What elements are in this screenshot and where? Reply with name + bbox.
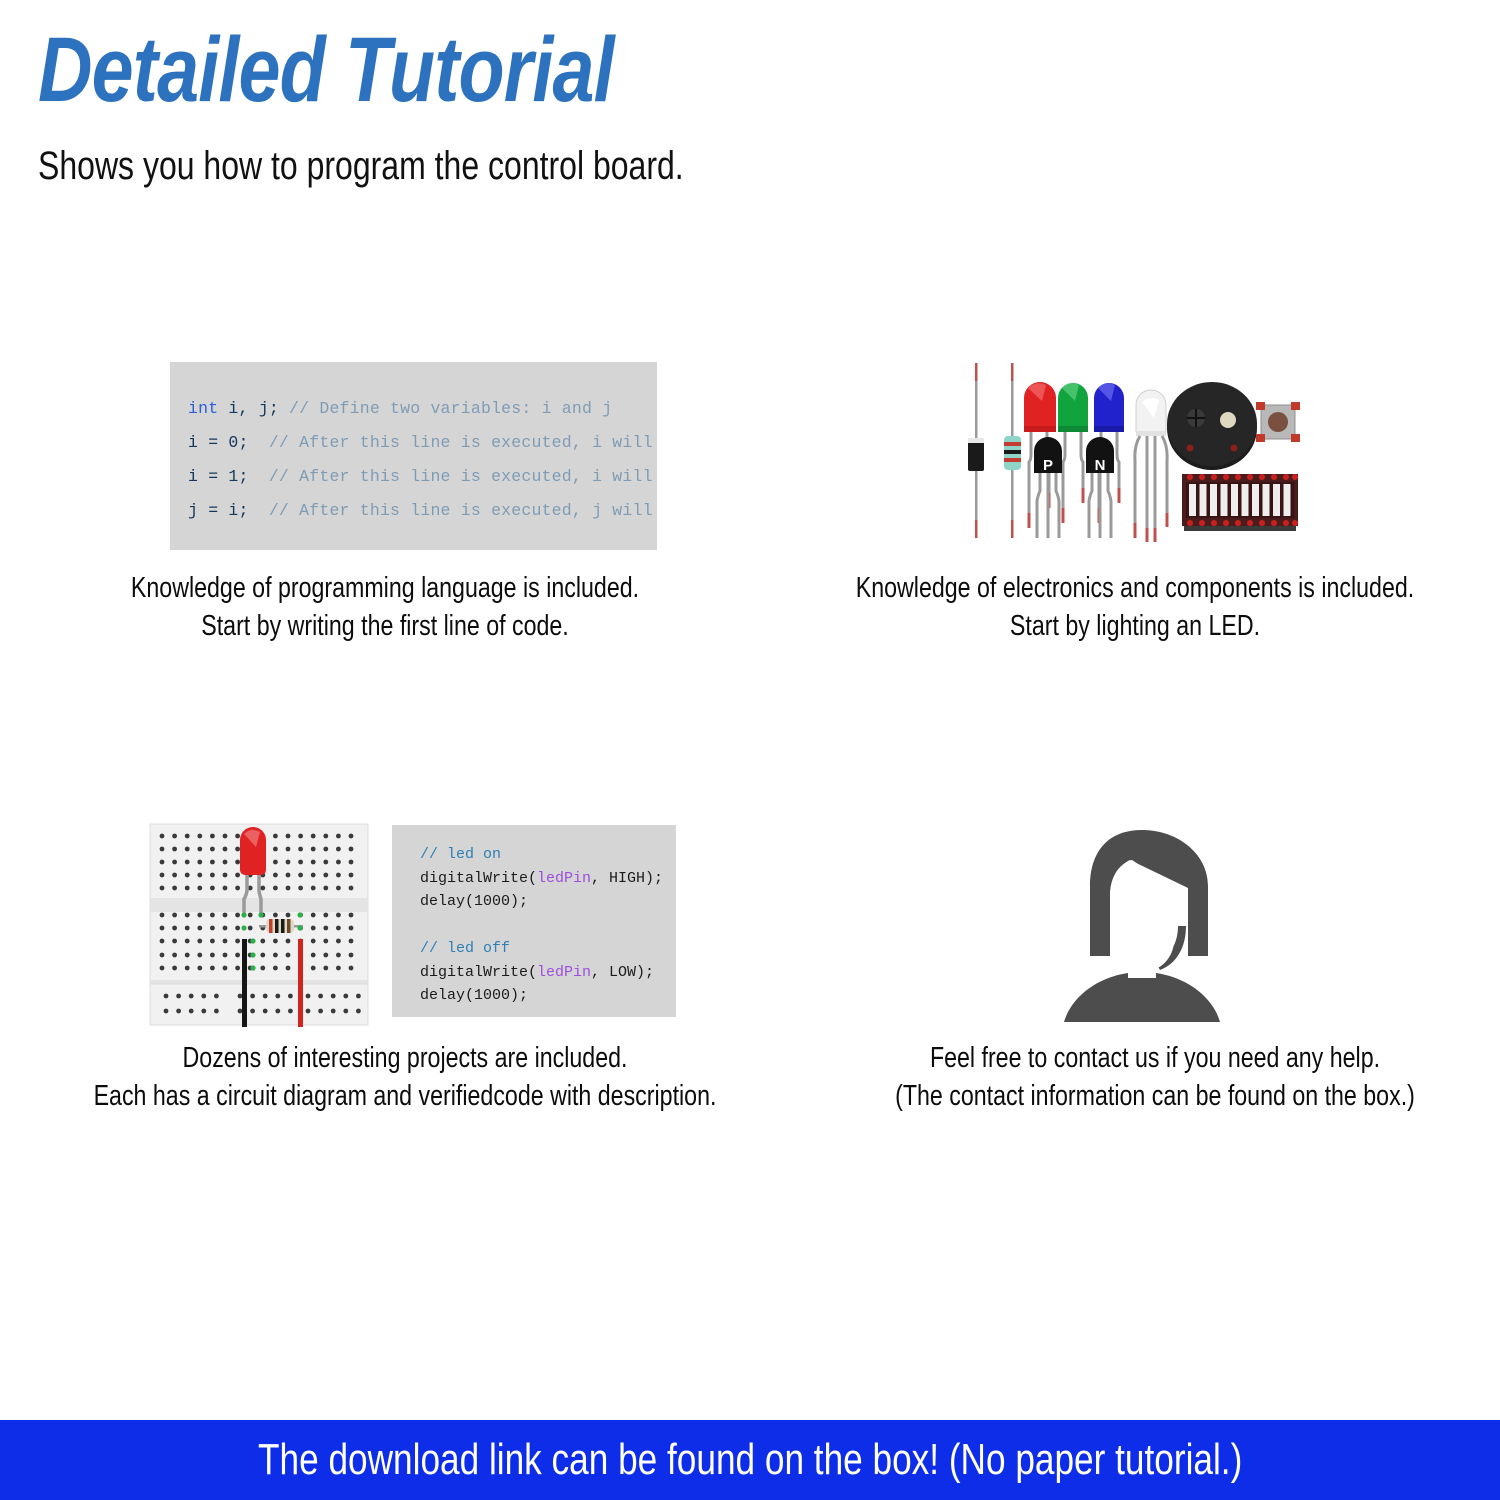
code-comment: // After this line is executed, i will b… <box>269 433 657 452</box>
caption-line-1: Feel free to contact us if you need any … <box>879 1040 1431 1078</box>
programming-code-block: int i, j; // Define two variables: i and… <box>170 362 657 550</box>
positive-wire <box>298 939 303 1027</box>
diode-icon <box>968 363 984 538</box>
code-text: digitalWrite( <box>420 964 537 981</box>
code-line-1: int i, j; // Define two variables: i and… <box>188 392 657 426</box>
buzzer-icon <box>1167 382 1257 470</box>
code-comment: // After this line is executed, i will b… <box>269 467 657 486</box>
pnp-transistor-icon: P <box>1034 437 1062 538</box>
project-code-block: // led on digitalWrite(ledPin, HIGH); de… <box>392 825 676 1017</box>
code-line-2: i = 0; // After this line is executed, i… <box>188 426 657 460</box>
support-caption: Feel free to contact us if you need any … <box>810 1040 1500 1115</box>
code-text: digitalWrite( <box>420 870 537 887</box>
footer-banner-text: The download link can be found on the bo… <box>258 1438 1242 1482</box>
support-illustration <box>1040 822 1245 1030</box>
code-comment: // Define two variables: i and j <box>289 399 612 418</box>
code-comment: // After this line is executed, j will b… <box>269 501 657 520</box>
footer-banner: The download link can be found on the bo… <box>0 1420 1500 1500</box>
green-led-icon <box>1058 383 1088 523</box>
caption-line-1: Dozens of interesting projects are inclu… <box>81 1040 729 1078</box>
caption-line-1: Knowledge of programming language is inc… <box>77 570 693 608</box>
code-comment: // led off <box>420 937 676 961</box>
caption-line-2: Each has a circuit diagram and verifiedc… <box>81 1078 729 1116</box>
projects-caption: Dozens of interesting projects are inclu… <box>0 1040 810 1115</box>
push-button-icon <box>1256 402 1300 442</box>
code-text: delay(1000); <box>420 984 676 1008</box>
caption-line-2: (The contact information can be found on… <box>879 1078 1431 1116</box>
caption-line-2: Start by writing the first line of code. <box>77 608 693 646</box>
code-blank-line <box>420 914 676 938</box>
code-text: i, j; <box>218 399 289 418</box>
rgb-led-icon <box>1134 390 1169 542</box>
caption-line-1: Knowledge of electronics and components … <box>843 570 1427 608</box>
code-text: j = i; <box>188 501 269 520</box>
page-header: Detailed Tutorial Shows you how to progr… <box>0 0 1500 200</box>
code-text: , HIGH); <box>591 870 663 887</box>
electronics-caption: Knowledge of electronics and components … <box>770 570 1500 645</box>
caption-line-2: Start by lighting an LED. <box>843 608 1427 646</box>
programming-caption: Knowledge of programming language is inc… <box>0 570 770 645</box>
svg-text:P: P <box>1043 457 1053 474</box>
code-text: i = 1; <box>188 467 269 486</box>
code-call-2: digitalWrite(ledPin, LOW); <box>420 961 676 985</box>
code-text: delay(1000); <box>420 890 676 914</box>
code-variable: ledPin <box>537 870 591 887</box>
led-bar-graph-icon <box>1182 474 1298 531</box>
code-text: i = 0; <box>188 433 269 452</box>
headset-operator-icon <box>1040 822 1245 1030</box>
svg-text:N: N <box>1095 457 1106 474</box>
page-subtitle: Shows you how to program the control boa… <box>38 142 684 190</box>
breadboard-illustration <box>148 822 370 1027</box>
npn-transistor-icon: N <box>1086 437 1114 538</box>
code-keyword: int <box>188 399 218 418</box>
code-variable: ledPin <box>537 964 591 981</box>
resistor-icon <box>1004 363 1021 538</box>
code-line-3: i = 1; // After this line is executed, i… <box>188 460 657 494</box>
electronic-components-illustration: P N <box>950 358 1310 543</box>
code-call-1: digitalWrite(ledPin, HIGH); <box>420 867 676 891</box>
code-comment: // led on <box>420 843 676 867</box>
negative-wire <box>242 939 247 1027</box>
code-line-4: j = i; // After this line is executed, j… <box>188 494 657 528</box>
page-title: Detailed Tutorial <box>38 18 614 124</box>
code-text: , LOW); <box>591 964 654 981</box>
